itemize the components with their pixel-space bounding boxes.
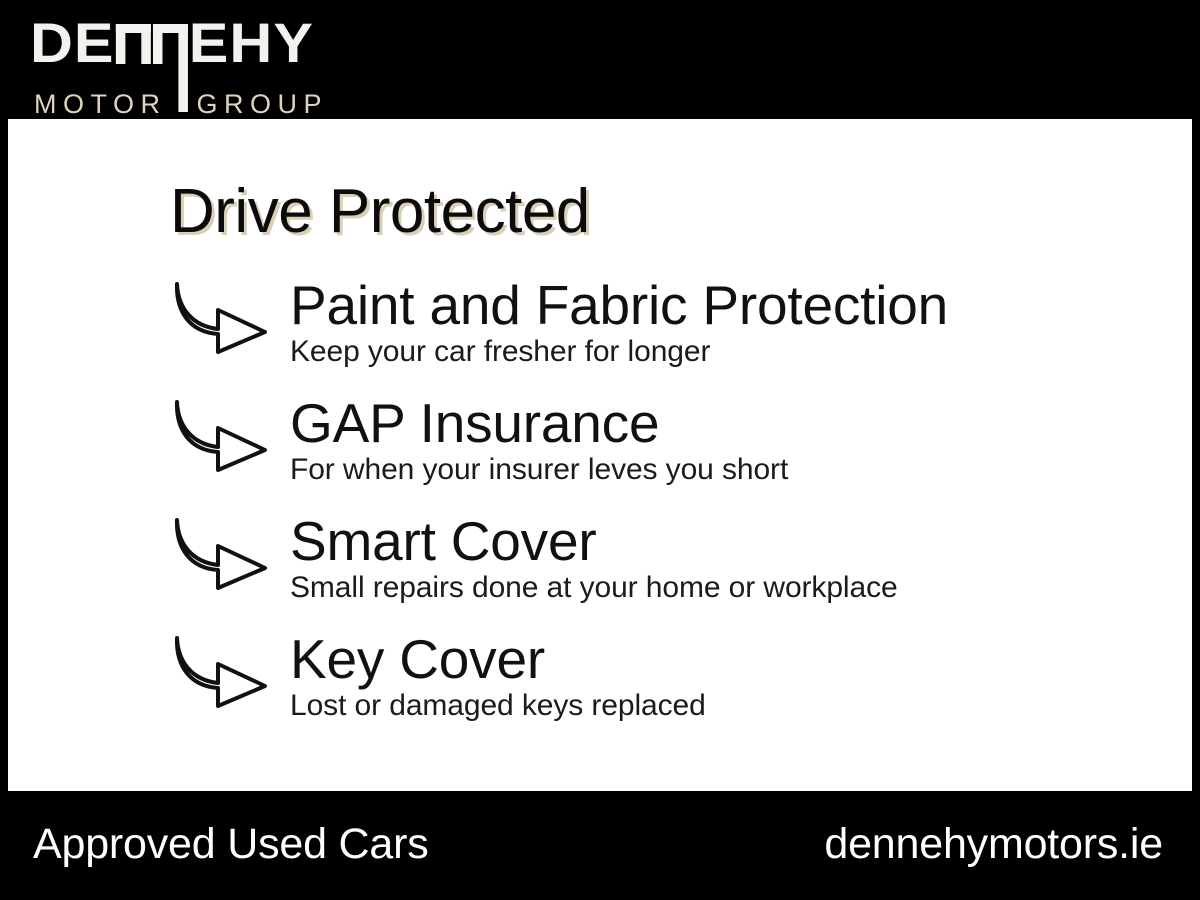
feature-row: GAP Insurance For when your insurer leve… xyxy=(8,392,1192,510)
footer-website[interactable]: dennehymotors.ie xyxy=(824,816,1163,872)
brand-header-band: DEEHY MOTORGROUP xyxy=(0,0,1200,119)
feature-text-group: Key Cover Lost or damaged keys replaced xyxy=(290,628,1170,724)
curved-arrow-icon xyxy=(172,518,272,590)
wordmark-segment-2: EHY xyxy=(189,11,314,74)
feature-title: Paint and Fabric Protection xyxy=(290,274,1170,336)
feature-title: Smart Cover xyxy=(290,510,1170,572)
feature-title: Key Cover xyxy=(290,628,1170,690)
content-panel: Drive Protected Paint and Fabric Protect… xyxy=(8,119,1192,791)
brand-subline-motor: MOTOR xyxy=(34,89,167,119)
feature-list: Paint and Fabric Protection Keep your ca… xyxy=(8,274,1192,746)
feature-subtitle: Lost or damaged keys replaced xyxy=(290,688,1170,724)
feature-subtitle: Keep your car fresher for longer xyxy=(290,334,1170,370)
brand-subline-group: GROUP xyxy=(197,89,329,119)
dennehy-motor-group-logo: DEEHY MOTORGROUP xyxy=(28,13,328,108)
feature-subtitle: For when your insurer leves you short xyxy=(290,452,1170,488)
feature-subtitle: Small repairs done at your home or workp… xyxy=(290,570,1170,606)
stylized-n-glyph-1 xyxy=(116,24,151,64)
wordmark-segment-1: DE xyxy=(30,11,115,74)
feature-row: Smart Cover Small repairs done at your h… xyxy=(8,510,1192,628)
footer-band: Approved Used Cars dennehymotors.ie xyxy=(0,791,1200,900)
feature-row: Key Cover Lost or damaged keys replaced xyxy=(8,628,1192,746)
page-title: Drive Protected xyxy=(170,176,590,248)
curved-arrow-icon xyxy=(172,636,272,708)
brand-wordmark: DEEHY xyxy=(30,13,314,73)
feature-title: GAP Insurance xyxy=(290,392,1170,454)
footer-tagline: Approved Used Cars xyxy=(33,816,429,872)
feature-text-group: Smart Cover Small repairs done at your h… xyxy=(290,510,1170,606)
brand-subline: MOTORGROUP xyxy=(34,89,328,119)
curved-arrow-icon xyxy=(172,400,272,472)
stylized-n-glyph-2-with-descender xyxy=(153,24,188,64)
dealer-promo-poster: DEEHY MOTORGROUP Drive Protected Paint a… xyxy=(0,0,1200,900)
feature-row: Paint and Fabric Protection Keep your ca… xyxy=(8,274,1192,392)
feature-text-group: Paint and Fabric Protection Keep your ca… xyxy=(290,274,1170,370)
feature-text-group: GAP Insurance For when your insurer leve… xyxy=(290,392,1170,488)
curved-arrow-icon xyxy=(172,282,272,354)
